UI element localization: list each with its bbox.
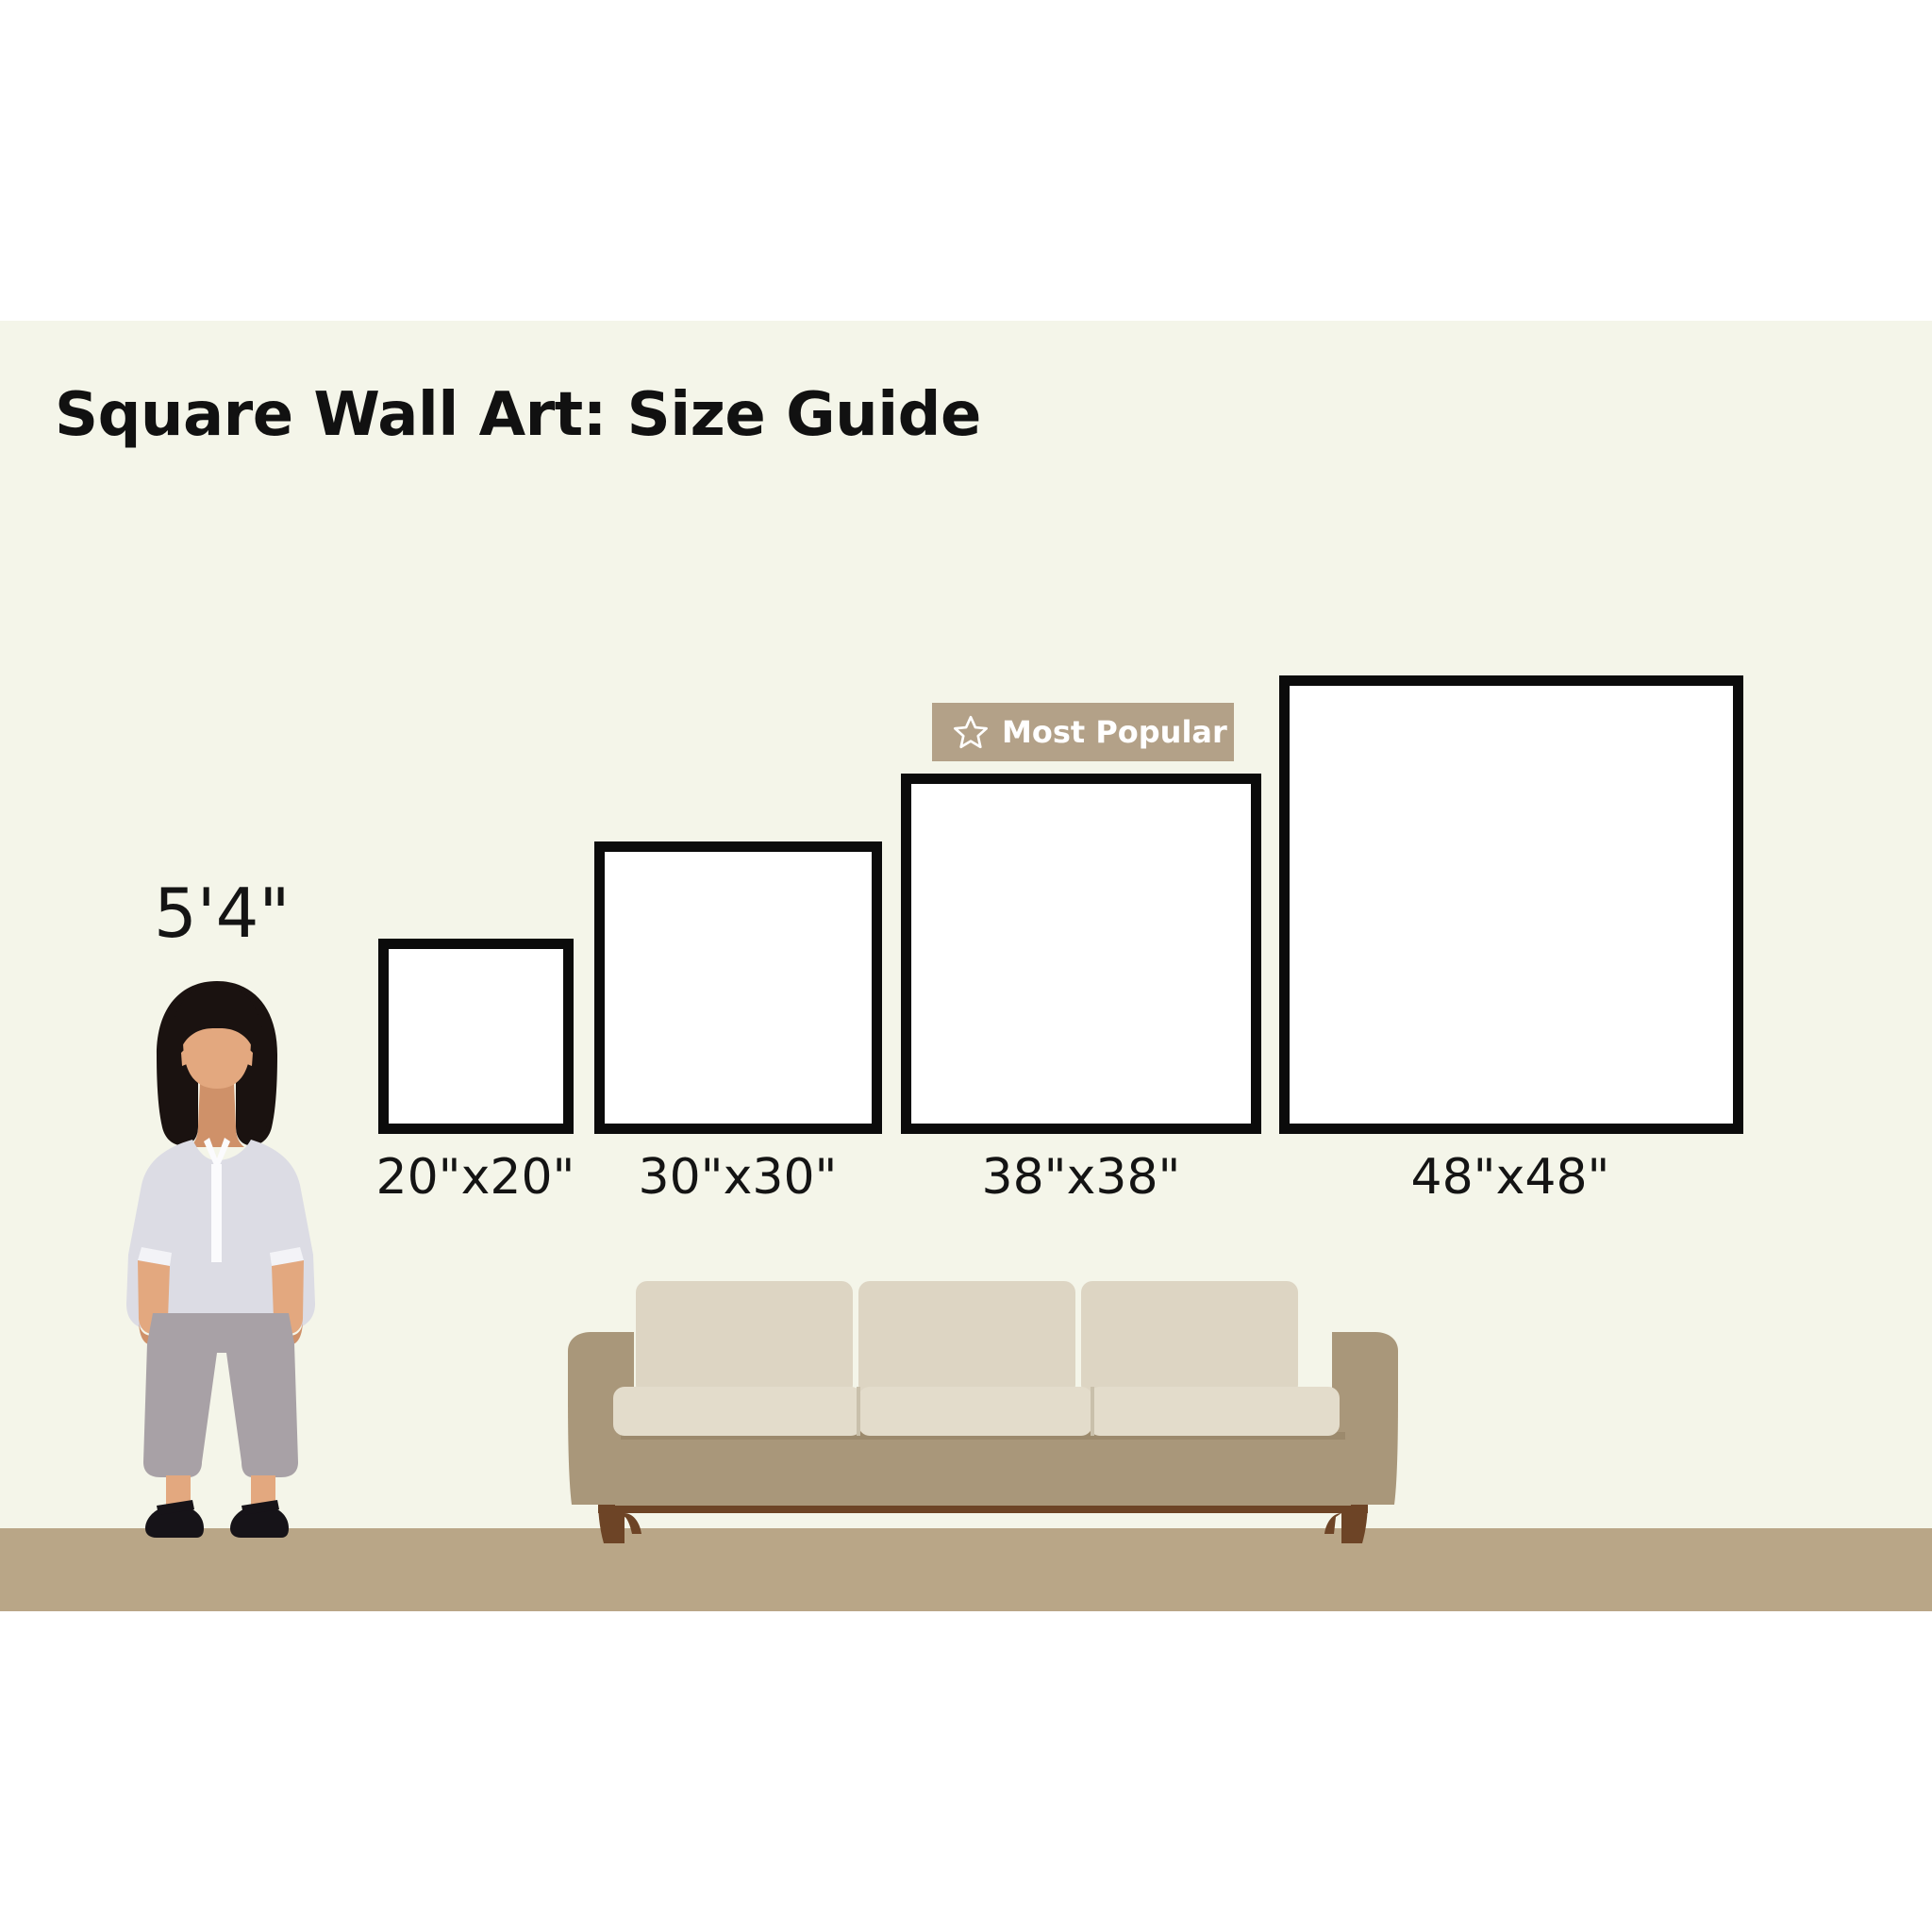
sofa-leg-brace-left	[625, 1513, 641, 1534]
frame-30x30[interactable]	[594, 841, 882, 1134]
sofa-back-cushion-2	[858, 1281, 1075, 1396]
most-popular-badge[interactable]: Most Popular	[932, 703, 1234, 761]
sofa-seat-gap-1	[857, 1387, 860, 1436]
sofa-seat-gap-2	[1091, 1387, 1094, 1436]
sofa-figure	[558, 1274, 1407, 1547]
sofa-seat-cushion-3	[1089, 1387, 1340, 1436]
size-guide-page: Square Wall Art: Size Guide 5'4"	[0, 0, 1932, 1932]
most-popular-badge-label: Most Popular	[1002, 717, 1227, 747]
person-illustration	[113, 972, 330, 1538]
blouse-placket	[211, 1164, 222, 1262]
sofa-seat-cushion-2	[858, 1387, 1092, 1436]
star-outline-icon	[953, 714, 989, 750]
person-figure	[113, 972, 330, 1538]
page-title: Square Wall Art: Size Guide	[55, 380, 981, 450]
sofa-back-cushion-3	[1081, 1281, 1298, 1396]
person-height-label: 5'4"	[154, 874, 291, 953]
sofa-leg-left	[598, 1500, 625, 1543]
frame-48x48[interactable]	[1279, 675, 1743, 1134]
sofa-back-cushion-1	[636, 1281, 853, 1396]
frame-label-30x30: 30"x30"	[549, 1149, 926, 1206]
frame-38x38[interactable]	[901, 774, 1261, 1134]
sofa-seat-cushion-1	[613, 1387, 862, 1436]
frame-20x20[interactable]	[378, 939, 574, 1134]
sofa-leg-right	[1341, 1500, 1368, 1543]
frame-label-38x38: 38"x38"	[892, 1149, 1270, 1206]
sofa-illustration	[558, 1274, 1407, 1547]
frame-label-48x48: 48"x48"	[1322, 1149, 1699, 1206]
sofa-leg-brace-right	[1324, 1513, 1341, 1534]
pants-shape	[143, 1313, 298, 1477]
room-scene: Square Wall Art: Size Guide 5'4"	[0, 321, 1932, 1611]
